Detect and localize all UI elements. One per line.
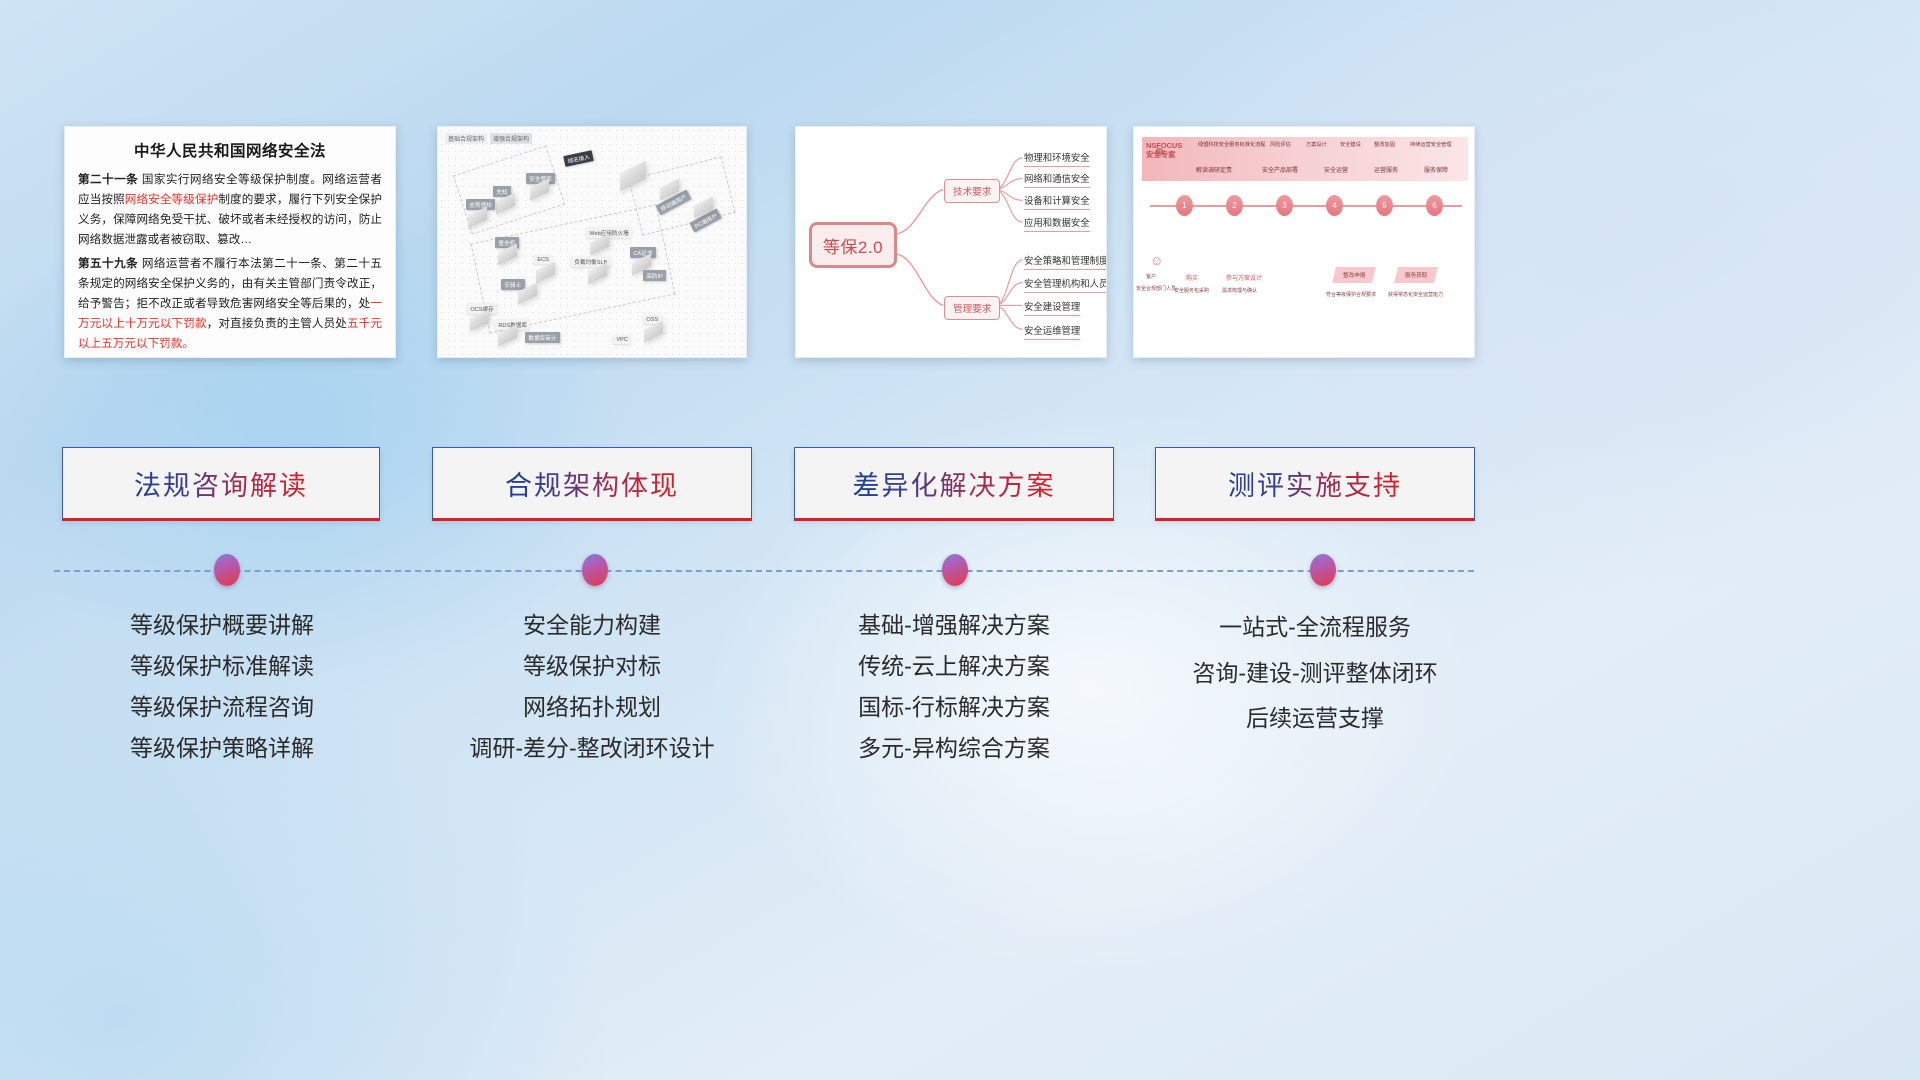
mindmap-leaf-app-data-security: 应用和数据安全	[1024, 215, 1090, 232]
mindmap-leaf-construction-mgmt: 安全建设管理	[1024, 299, 1080, 316]
list-item: 等级保护策略详解	[62, 728, 382, 769]
list-item: 基础-增强解决方案	[794, 605, 1114, 646]
banner-label-4: 整改加固	[1374, 141, 1395, 148]
architecture-tabs[interactable]: 基础合规架构 增强合规架构	[445, 133, 532, 144]
stage-label-3: 运营服务	[1374, 165, 1398, 174]
action-label-purchase: 购买	[1186, 273, 1198, 282]
dengbao-mindmap-card[interactable]: 等保2.0 技术要求 物理和环境安全 网络和通信安全 设备和计算安全 应用和数据…	[795, 126, 1107, 358]
banner-label-assessment: 测评实施支持	[1228, 464, 1402, 503]
article-59-label: 第五十九条	[78, 257, 138, 270]
nsfocus-logo-line1: NSFOCUS	[1146, 141, 1182, 150]
list-item: 国标-行标解决方案	[794, 687, 1114, 728]
banner-label-architecture: 合规架构体现	[505, 464, 679, 503]
node-waf: Web应用防火墙	[586, 227, 632, 238]
roadmap-node-6: 6	[1426, 195, 1443, 216]
banner-differentiated-solution[interactable]: 差异化解决方案	[794, 447, 1114, 521]
stage-label-1: 安全产品部署	[1262, 165, 1298, 174]
banner-label-5: 持续运营安全管理	[1410, 141, 1452, 148]
roadmap-node-4: 4	[1326, 195, 1343, 216]
article-21-label: 第二十一条	[78, 173, 138, 186]
list-item: 等级保护流程咨询	[62, 687, 382, 728]
timeline	[54, 554, 1474, 588]
list-item: 多元-异构综合方案	[794, 728, 1114, 769]
mindmap-group-technical: 技术要求	[944, 179, 1000, 203]
role-label-customer: 客户	[1146, 273, 1156, 280]
list-item: 传统-云上解决方案	[794, 646, 1114, 687]
customer-avatar-icon: ☺	[1150, 253, 1163, 268]
detail-column-architecture: 安全能力构建 等级保护对标 网络拓扑规划 调研-差分-整改闭环设计	[432, 605, 752, 770]
stage-label-4: 服务保障	[1424, 165, 1448, 174]
roadmap-diagram: ☻ NSFOCUS 安全专家 绿盟科技安全服务标准化流程 风险评估 方案设计 安…	[1134, 127, 1474, 357]
law-document-card[interactable]: 中华人民共和国网络安全法 第二十一条 国家实行网络安全等级保护制度。网络运营者应…	[64, 126, 396, 358]
node-vpc: VPC	[613, 335, 631, 344]
banner-label-1: 风险评估	[1270, 141, 1291, 148]
output-rectification: 整改申报	[1332, 267, 1376, 283]
list-item: 调研-差分-整改闭环设计	[432, 728, 752, 769]
mindmap-leaf-network-comm-security: 网络和通信安全	[1024, 171, 1090, 188]
mindmap: 等保2.0 技术要求 物理和环境安全 网络和通信安全 设备和计算安全 应用和数据…	[796, 127, 1106, 357]
roadmap-node-5: 5	[1376, 195, 1393, 216]
list-item: 后续运营支撑	[1155, 696, 1475, 742]
banner-regulation-consulting[interactable]: 法规咨询解读	[62, 447, 380, 521]
banner-label-regulation: 法规咨询解读	[134, 464, 308, 503]
banner-assessment-support[interactable]: 测评实施支持	[1155, 447, 1475, 521]
article-59-text-b: ，对直接负责的主管人员处	[207, 317, 347, 330]
banner-label-solution: 差异化解决方案	[853, 464, 1056, 503]
detail-column-assessment: 一站式-全流程服务 咨询-建设-测评整体闭环 后续运营支撑	[1155, 605, 1475, 742]
output-service: 服务获取	[1394, 267, 1438, 283]
action-sub-design: 需求梳理与确认	[1222, 287, 1257, 294]
banner-label-2: 方案设计	[1306, 141, 1327, 148]
role-sub-customer: 安全合规部门人员	[1136, 285, 1176, 292]
nsfocus-roadmap-card[interactable]: ☻ NSFOCUS 安全专家 绿盟科技安全服务标准化流程 风险评估 方案设计 安…	[1133, 126, 1475, 358]
list-item: 咨询-建设-测评整体闭环	[1155, 651, 1475, 697]
mindmap-leaf-ops-mgmt: 安全运维管理	[1024, 323, 1080, 340]
node-anti-ddos-ip: 高防IP	[643, 270, 666, 281]
roadmap-node-3: 3	[1276, 195, 1293, 216]
banner-compliance-architecture[interactable]: 合规架构体现	[432, 447, 752, 521]
architecture-diagram: 基础合规架构 增强合规架构 域名接入 安全管家 先知 态势感知 堡垒机 Web应…	[438, 127, 746, 357]
list-item: 等级保护标准解读	[62, 646, 382, 687]
law-document-body: 中华人民共和国网络安全法 第二十一条 国家实行网络安全等级保护制度。网络运营者应…	[65, 127, 395, 358]
law-article-21: 第二十一条 国家实行网络安全等级保护制度。网络运营者应当按照网络安全等级保护制度…	[78, 170, 382, 250]
list-item: 网络拓扑规划	[432, 687, 752, 728]
output-sub-service: 获得常态化安全运营能力	[1388, 291, 1443, 298]
nsfocus-logo: NSFOCUS 安全专家	[1146, 141, 1182, 160]
timeline-dot-2[interactable]	[582, 554, 608, 586]
section-banner-row: 法规咨询解读 合规架构体现 差异化解决方案 测评实施支持	[0, 447, 1920, 523]
stage-label-2: 安全运营	[1324, 165, 1348, 174]
detail-column-regulation: 等级保护概要讲解 等级保护标准解读 等级保护流程咨询 等级保护策略详解	[62, 605, 382, 770]
list-item: 安全能力构建	[432, 605, 752, 646]
output-sub-rectification: 符合等级保护合规要求	[1326, 291, 1376, 298]
timeline-dot-3[interactable]	[942, 554, 968, 586]
list-item: 等级保护概要讲解	[62, 605, 382, 646]
timeline-dashed-line	[54, 570, 1474, 572]
action-sub-purchase: 安全服务包采购	[1174, 287, 1209, 294]
node-db-audit: 数据库审计	[525, 332, 560, 343]
nsfocus-logo-line2: 安全专家	[1146, 150, 1176, 159]
action-label-design: 参与方案设计	[1226, 273, 1262, 282]
mindmap-leaf-policy-system: 安全策略和管理制度	[1024, 253, 1107, 270]
roadmap-node-1: 1	[1176, 195, 1193, 216]
node-anqishi: 安骑士	[501, 279, 525, 290]
timeline-dot-4[interactable]	[1310, 554, 1336, 586]
mindmap-leaf-physical-env-security: 物理和环境安全	[1024, 150, 1090, 167]
stage-label-0: 解读调研定责	[1196, 165, 1232, 174]
detail-column-solution: 基础-增强解决方案 传统-云上解决方案 国标-行标解决方案 多元-异构综合方案	[794, 605, 1114, 770]
mindmap-group-management: 管理要求	[944, 296, 1000, 320]
law-title: 中华人民共和国网络安全法	[78, 139, 382, 161]
timeline-dot-1[interactable]	[214, 554, 240, 586]
tab-basic-architecture[interactable]: 基础合规架构	[445, 133, 487, 144]
list-item: 一站式-全流程服务	[1155, 605, 1475, 651]
mindmap-leaf-device-compute-security: 设备和计算安全	[1024, 193, 1090, 210]
roadmap-timeline-line	[1150, 205, 1462, 207]
roadmap-node-2: 2	[1226, 195, 1243, 216]
cloud-architecture-card[interactable]: 基础合规架构 增强合规架构 域名接入 安全管家 先知 态势感知 堡垒机 Web应…	[437, 126, 747, 358]
banner-label-3: 安全建设	[1340, 141, 1361, 148]
law-article-59: 第五十九条 网络运营者不履行本法第二十一条、第二十五条规定的网络安全保护义务的，…	[78, 254, 382, 354]
list-item: 等级保护对标	[432, 646, 752, 687]
image-card-row: 中华人民共和国网络安全法 第二十一条 国家实行网络安全等级保护制度。网络运营者应…	[0, 126, 1920, 362]
article-21-highlight: 网络安全等级保护	[125, 193, 219, 206]
mindmap-root-node: 等保2.0	[809, 222, 897, 268]
tab-enhanced-architecture[interactable]: 增强合规架构	[490, 133, 532, 144]
mindmap-leaf-org-personnel: 安全管理机构和人员	[1024, 276, 1107, 293]
banner-label-0: 绿盟科技安全服务标准化流程	[1198, 141, 1265, 148]
